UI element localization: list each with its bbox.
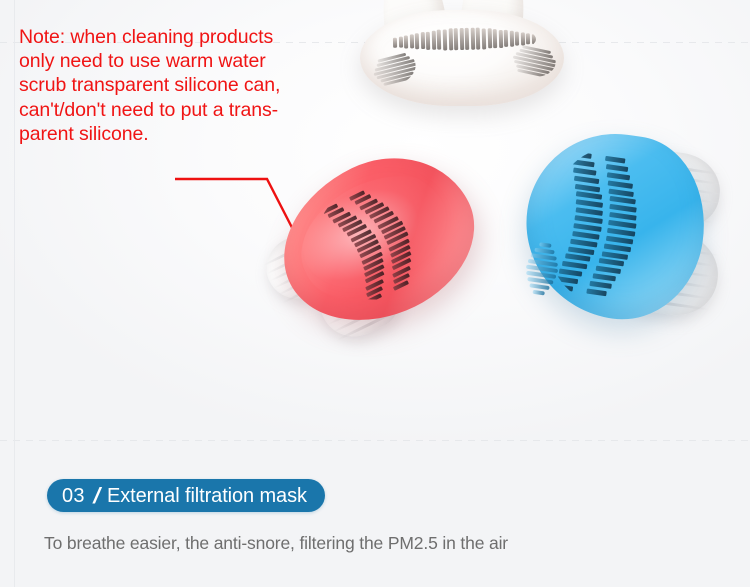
product-blue-nasal-filter — [512, 128, 750, 350]
guide-rule-bottom — [0, 440, 750, 441]
section-badge: 03 / External filtration mask — [47, 479, 325, 512]
product-info-banner: Note: when cleaning products only need t… — [0, 0, 750, 587]
cleaning-note-text: Note: when cleaning products only need t… — [19, 25, 349, 146]
section-separator: / — [91, 485, 103, 507]
product-red-nasal-filter — [258, 160, 488, 350]
section-title: External filtration mask — [107, 486, 307, 506]
section-number: 03 — [62, 486, 85, 506]
section-subtitle: To breathe easier, the anti-snore, filte… — [44, 533, 508, 554]
guide-rule-left — [14, 0, 15, 587]
